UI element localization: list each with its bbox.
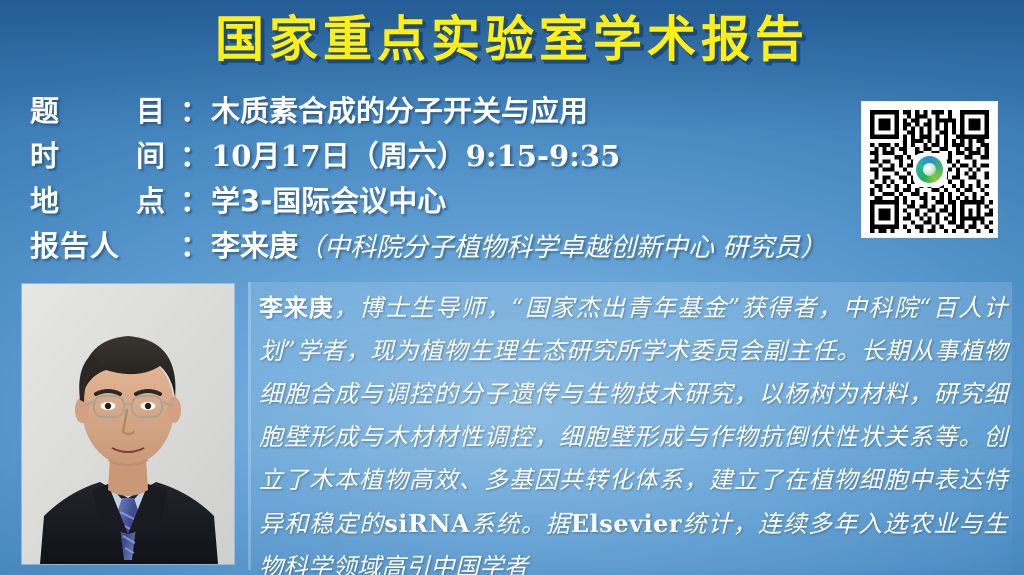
value-venue: 学3-国际会议中心	[211, 178, 446, 220]
bio-term-sirna: siRNA	[384, 509, 470, 538]
value-speaker-affiliation: （中科院分子植物科学卓越创新中心 研究员）	[298, 227, 826, 264]
poster-title: 国家重点实验室学术报告	[215, 14, 809, 66]
bio-term-elsevier: Elsevier	[571, 509, 682, 538]
info-row-speaker: 报告人 ： 李来庚 （中科院分子植物科学卓越创新中心 研究员）	[30, 223, 826, 268]
colon-venue: ：	[180, 178, 209, 220]
qr-code[interactable]	[862, 102, 997, 237]
value-time: 10月17日（周六）9:15-9:35	[211, 133, 620, 175]
info-row-topic: 题 目 ： 木质素合成的分子开关与应用	[30, 88, 826, 133]
info-row-time: 时 间 ： 10月17日（周六）9:15-9:35	[30, 133, 826, 178]
info-row-venue: 地 点 ： 学3-国际会议中心	[30, 178, 826, 223]
bio-text-part-1: ，博士生导师，“国家杰出青年基金”获得者，中科院“百人计划”学者，现为植物生理生…	[259, 294, 1008, 538]
colon-time: ：	[180, 133, 209, 175]
poster-title-container: 国家重点实验室学术报告	[0, 14, 1024, 66]
qr-center-logo-icon	[913, 153, 947, 187]
label-time: 时 间	[30, 133, 180, 175]
label-venue: 地 点	[30, 178, 180, 220]
value-speaker-name: 李来庚	[211, 223, 298, 265]
qr-canvas	[862, 102, 997, 237]
bio-speaker-name: 李来庚	[259, 293, 334, 322]
colon-topic: ：	[180, 88, 209, 130]
label-speaker: 报告人	[30, 223, 180, 265]
speaker-bio-panel: 李来庚，博士生导师，“国家杰出青年基金”获得者，中科院“百人计划”学者，现为植物…	[248, 282, 1012, 570]
speaker-bio-text: 李来庚，博士生导师，“国家杰出青年基金”获得者，中科院“百人计划”学者，现为植物…	[259, 286, 1008, 575]
bio-text-part-2: 系统。据	[470, 510, 571, 538]
seminar-info-block: 题 目 ： 木质素合成的分子开关与应用 时 间 ： 10月17日（周六）9:15…	[30, 88, 826, 268]
colon-speaker: ：	[180, 223, 209, 265]
label-topic: 题 目	[30, 88, 180, 130]
speaker-photo	[22, 284, 234, 564]
value-topic: 木质素合成的分子开关与应用	[211, 88, 588, 130]
seminar-poster: 国家重点实验室学术报告 题 目 ： 木质素合成的分子开关与应用 时 间 ： 10…	[0, 0, 1024, 575]
portrait-image	[22, 284, 234, 564]
